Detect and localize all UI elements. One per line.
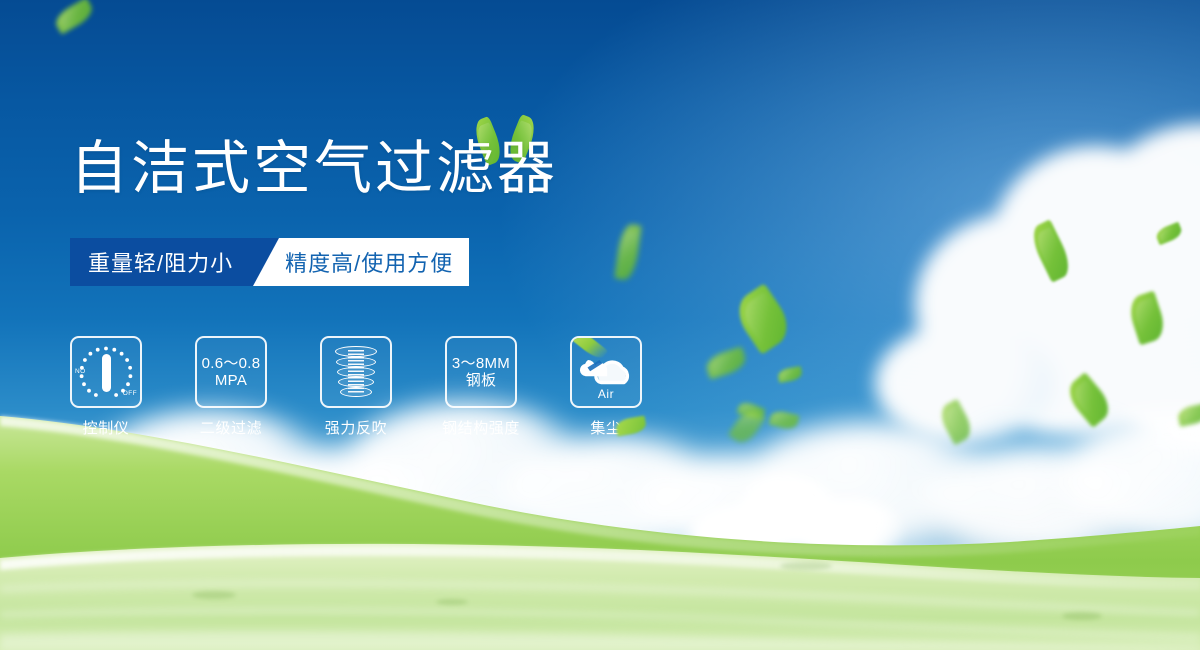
tagline-primary: 重量轻/阻力小 xyxy=(70,238,253,286)
pressure-range: 0.6～0.8 xyxy=(202,355,261,372)
feature-icon-box: NO OFF xyxy=(70,336,142,408)
air-cloud-icon: Air xyxy=(575,346,637,398)
feature-item-back-blow[interactable]: 强力反吹 xyxy=(320,336,392,438)
steel-plate-value-icon: 3～8MM 钢板 xyxy=(452,355,510,389)
tagline-secondary: 精度高/使用方便 xyxy=(279,238,469,286)
feature-item-controller[interactable]: NO OFF 控制仪 xyxy=(70,336,142,438)
feature-label: 控制仪 xyxy=(83,417,130,438)
steel-material: 钢板 xyxy=(452,372,510,389)
feature-icon-box: 3～8MM 钢板 xyxy=(445,336,517,408)
filter-coil-icon xyxy=(330,344,382,400)
feature-item-steel-strength[interactable]: 3～8MM 钢板 钢结构强度 xyxy=(445,336,517,438)
feature-label: 强力反吹 xyxy=(325,417,387,438)
gauge-needle xyxy=(102,354,111,392)
gauge-dial-icon: NO OFF xyxy=(76,343,136,401)
feature-icon-box: Air xyxy=(570,336,642,408)
feature-icon-box: 0.6～0.8 MPA xyxy=(195,336,267,408)
gauge-on-label: NO xyxy=(75,368,86,375)
feature-list: NO OFF 控制仪 0.6～0.8 MPA 二级过滤 xyxy=(70,336,642,438)
air-label: Air xyxy=(575,387,637,401)
tagline-divider-slant xyxy=(253,238,279,286)
pressure-value-icon: 0.6～0.8 MPA xyxy=(202,355,261,389)
feature-label: 钢结构强度 xyxy=(442,417,520,438)
page-title: 自洁式空气过滤器 xyxy=(70,140,558,198)
gauge-off-label: OFF xyxy=(123,390,137,397)
steel-thickness: 3～8MM xyxy=(452,355,510,372)
feature-label: 二级过滤 xyxy=(200,417,262,438)
feature-icon-box xyxy=(320,336,392,408)
product-hero-banner: 自洁式空气过滤器 重量轻/阻力小 精度高/使用方便 xyxy=(0,0,1200,650)
tagline-bar: 重量轻/阻力小 精度高/使用方便 xyxy=(70,238,469,286)
pressure-unit: MPA xyxy=(202,372,261,389)
feature-item-two-stage-filter[interactable]: 0.6～0.8 MPA 二级过滤 xyxy=(195,336,267,438)
